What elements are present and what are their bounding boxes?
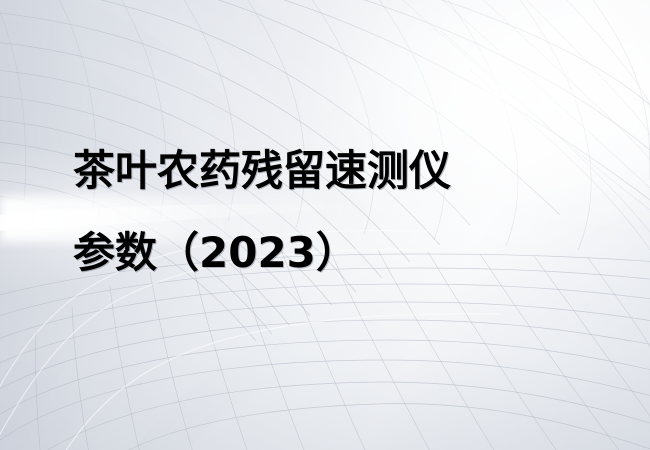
title-block: 茶叶农药残留速测仪 参数（2023） bbox=[73, 130, 613, 294]
slide-canvas: 茶叶农药残留速测仪 参数（2023） bbox=[0, 0, 650, 450]
title-line-1: 茶叶农药残留速测仪 bbox=[73, 130, 613, 212]
title-line-2: 参数（2023） bbox=[73, 212, 613, 294]
